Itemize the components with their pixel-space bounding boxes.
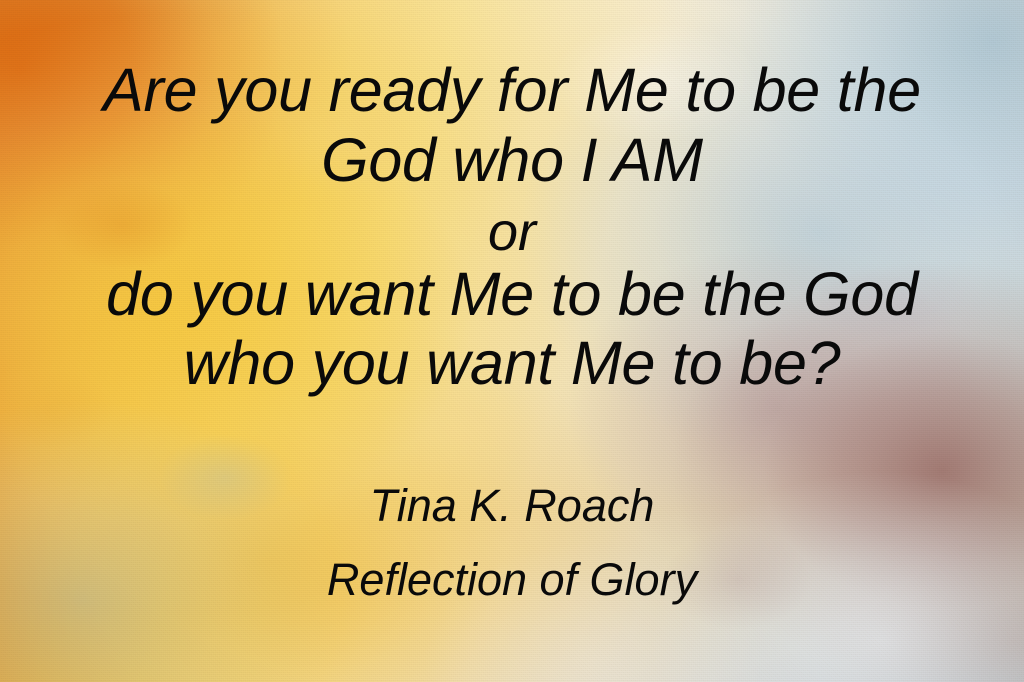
quote-line-2: God who I AM: [0, 130, 1024, 191]
attribution-source: Reflection of Glory: [0, 557, 1024, 602]
attribution-author: Tina K. Roach: [0, 483, 1024, 528]
quote-line-5: who you want Me to be?: [0, 333, 1024, 394]
quote-line-3-or: or: [0, 205, 1024, 259]
quote-line-4: do you want Me to be the God: [0, 264, 1024, 325]
quote-poster: Are you ready for Me to be the God who I…: [0, 0, 1024, 682]
text-overlay: Are you ready for Me to be the God who I…: [0, 0, 1024, 682]
quote-line-1: Are you ready for Me to be the: [0, 60, 1024, 121]
